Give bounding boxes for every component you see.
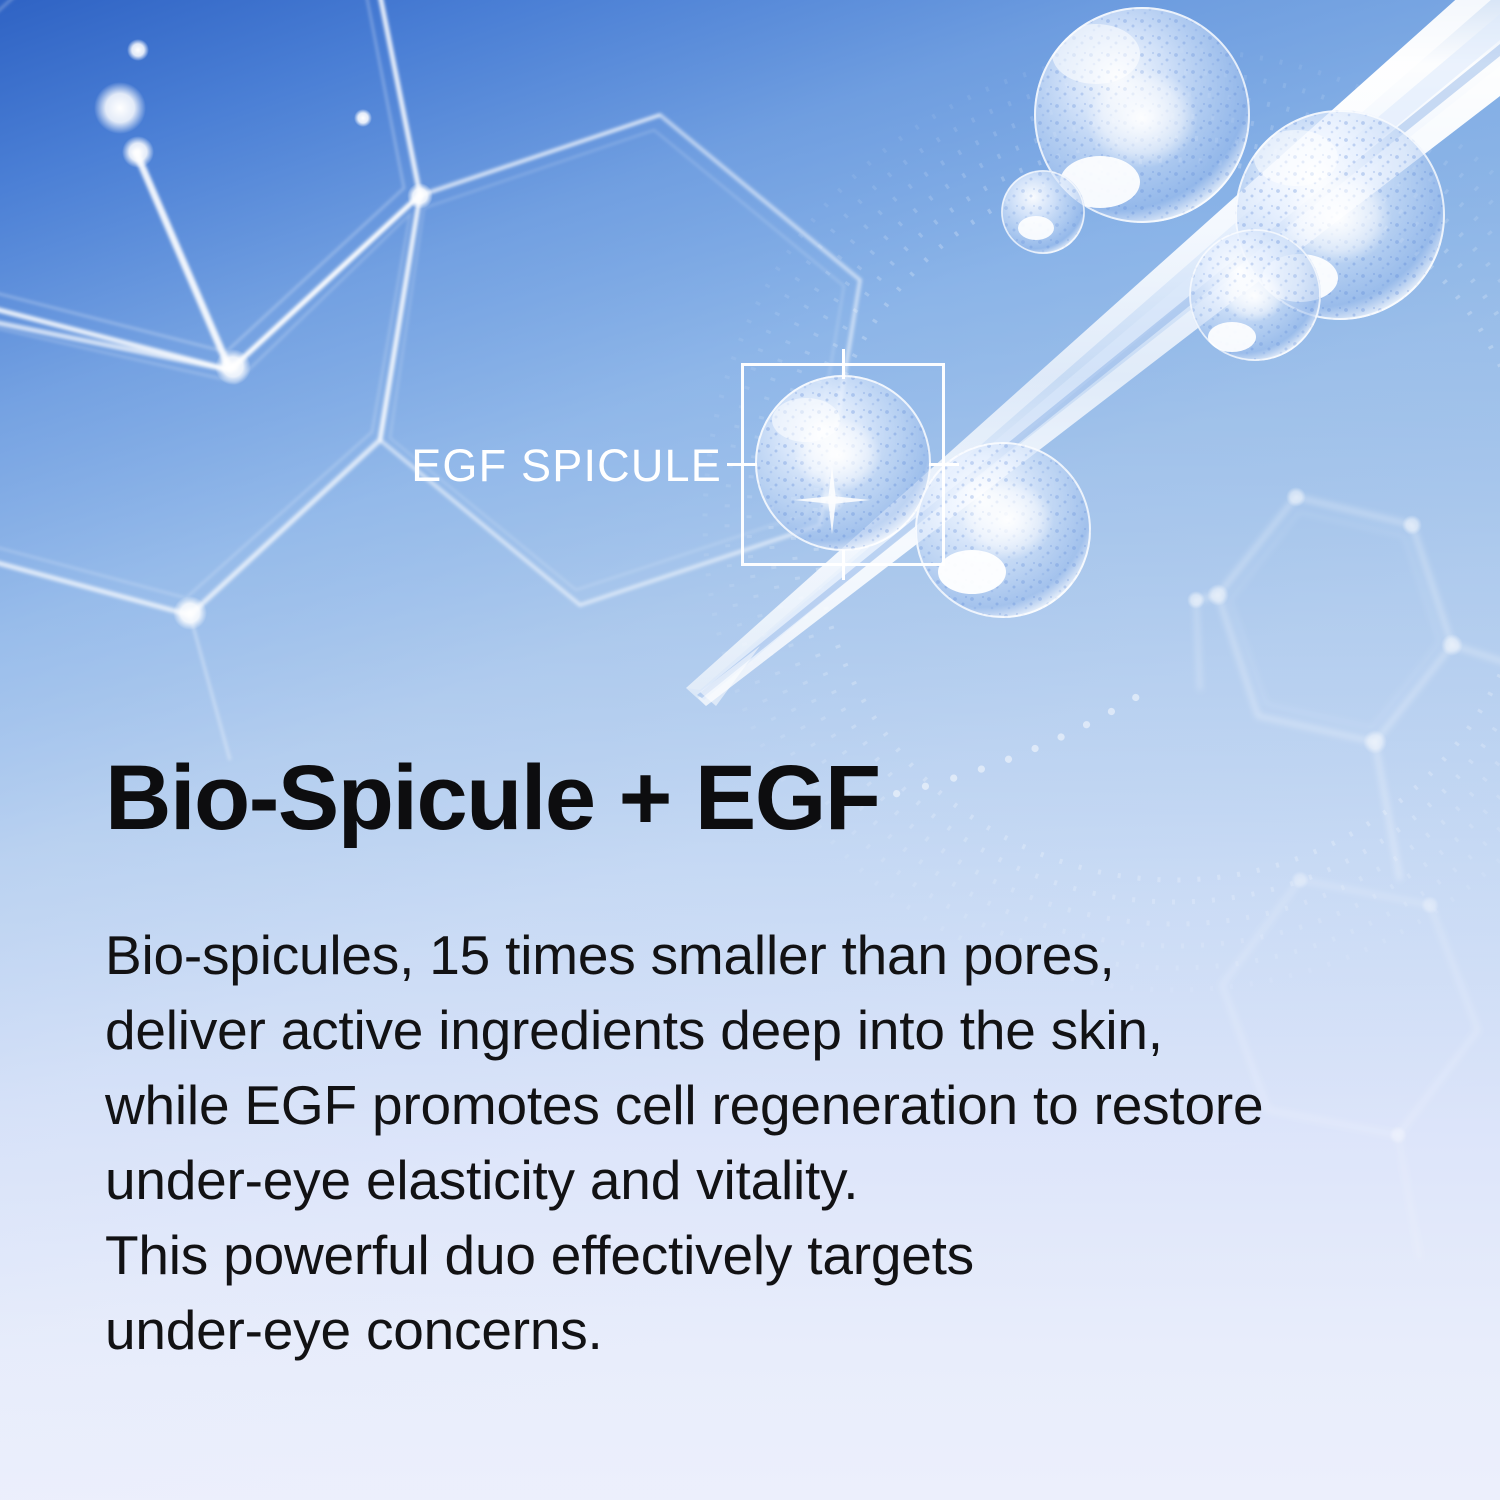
reticle-tick-left	[727, 463, 757, 466]
body-line: This powerful duo effectively targets	[105, 1218, 1405, 1293]
reticle-tick-right	[929, 463, 959, 466]
body-line: under-eye elasticity and vitality.	[105, 1143, 1405, 1218]
body-line: while EGF promotes cell regeneration to …	[105, 1068, 1405, 1143]
reticle-label: EGF SPICULE	[362, 443, 722, 488]
body-line: deliver active ingredients deep into the…	[105, 993, 1405, 1068]
body-line: under-eye concerns.	[105, 1293, 1405, 1368]
body-copy: Bio-spicules, 15 times smaller than pore…	[105, 918, 1405, 1368]
page-title: Bio-Spicule + EGF	[105, 752, 880, 844]
focus-reticle-icon	[741, 363, 945, 566]
reticle-tick-top	[842, 349, 845, 379]
body-line: Bio-spicules, 15 times smaller than pore…	[105, 918, 1405, 993]
product-feature-banner: EGF SPICULE Bio-Spicule + EGF Bio-spicul…	[0, 0, 1500, 1500]
reticle-tick-bottom	[842, 550, 845, 580]
